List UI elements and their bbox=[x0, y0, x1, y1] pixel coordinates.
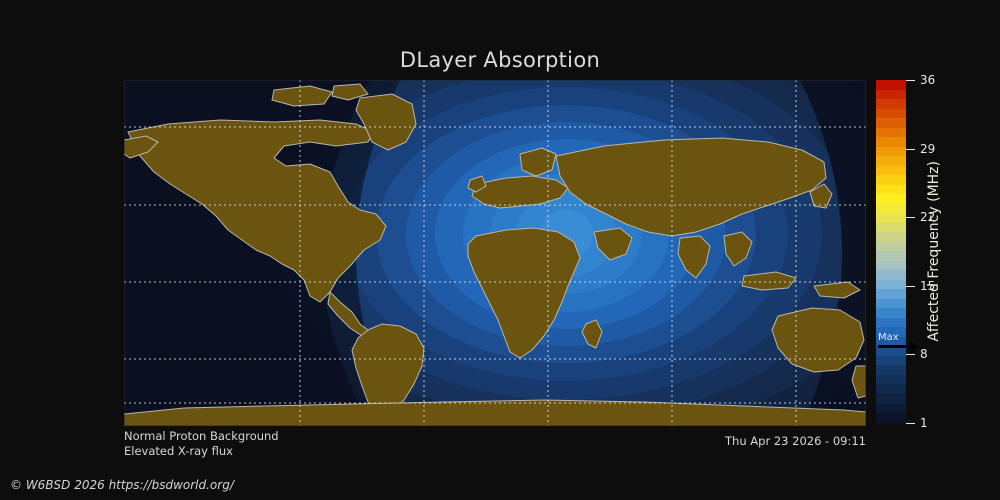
colorbar-band bbox=[876, 270, 906, 280]
colorbar-band bbox=[876, 299, 906, 309]
colorbar-band bbox=[876, 394, 906, 404]
colorbar-band bbox=[876, 99, 906, 109]
colorbar-tick-mark bbox=[906, 354, 915, 355]
colorbar-band bbox=[876, 413, 906, 423]
colorbar-band bbox=[876, 90, 906, 100]
colorbar-band bbox=[876, 166, 906, 176]
copyright-footer: © W6BSD 2026 https://bsdworld.org/ bbox=[10, 478, 234, 492]
colorbar-tick-mark bbox=[906, 149, 915, 150]
note-proton-background: Normal Proton Background bbox=[124, 429, 279, 443]
colorbar-band bbox=[876, 242, 906, 252]
colorbar-band bbox=[876, 289, 906, 299]
colorbar-band bbox=[876, 109, 906, 119]
colorbar-band bbox=[876, 213, 906, 223]
note-xray-flux: Elevated X-ray flux bbox=[124, 444, 233, 458]
colorbar-band bbox=[876, 185, 906, 195]
colorbar-band bbox=[876, 318, 906, 328]
colorbar-axis-label-text: Affected Frequency (MHz) bbox=[926, 161, 942, 342]
colorbar-band bbox=[876, 251, 906, 261]
colorbar-tick-mark bbox=[906, 423, 915, 424]
colorbar-band bbox=[876, 232, 906, 242]
colorbar bbox=[876, 80, 906, 423]
colorbar-band bbox=[876, 308, 906, 318]
max-marker-label: Max bbox=[878, 332, 899, 343]
colorbar-band bbox=[876, 356, 906, 366]
colorbar-band bbox=[876, 80, 906, 90]
colorbar-band bbox=[876, 137, 906, 147]
colorbar-band bbox=[876, 385, 906, 395]
colorbar-band bbox=[876, 223, 906, 233]
colorbar-band bbox=[876, 261, 906, 271]
colorbar-tick-mark bbox=[906, 286, 915, 287]
colorbar-axis-label: Affected Frequency (MHz) bbox=[921, 80, 947, 423]
colorbar-band bbox=[876, 118, 906, 128]
colorbar-band bbox=[876, 375, 906, 385]
colorbar-band bbox=[876, 404, 906, 414]
colorbar-band bbox=[876, 204, 906, 214]
colorbar-band bbox=[876, 280, 906, 290]
world-map bbox=[124, 80, 866, 426]
colorbar-band bbox=[876, 156, 906, 166]
colorbar-band bbox=[876, 175, 906, 185]
colorbar-tick-mark bbox=[906, 217, 915, 218]
colorbar-band bbox=[876, 365, 906, 375]
colorbar-band bbox=[876, 194, 906, 204]
colorbar-band bbox=[876, 147, 906, 157]
timestamp: Thu Apr 23 2026 - 09:11 bbox=[725, 434, 866, 448]
dlayer-absorption-figure: DLayer Absorption bbox=[0, 0, 1000, 500]
colorbar-band bbox=[876, 128, 906, 138]
map-canvas bbox=[124, 80, 866, 426]
page-title: DLayer Absorption bbox=[0, 48, 1000, 72]
colorbar-tick-mark bbox=[906, 80, 915, 81]
